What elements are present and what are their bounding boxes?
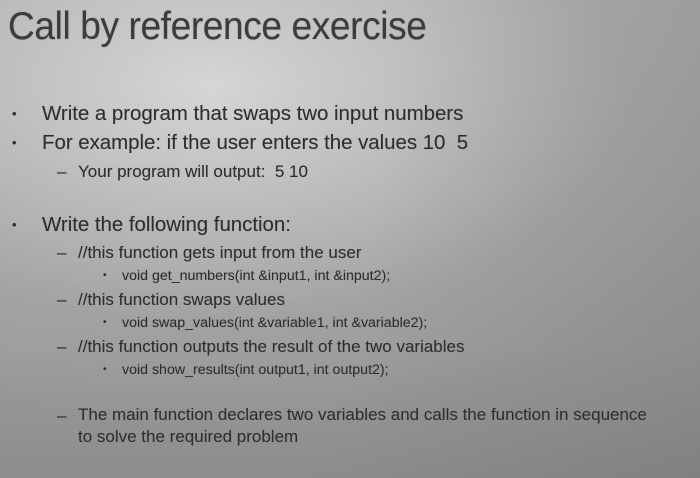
- function-signature: void swap_values(int &variable1, int &va…: [122, 313, 427, 333]
- bullet-text: The main function declares two variables…: [78, 404, 647, 448]
- bullet-item: • Write a program that swaps two input n…: [12, 100, 463, 127]
- bullet-marker-level1: •: [12, 211, 42, 238]
- slide-title: Call by reference exercise: [8, 2, 426, 52]
- bullet-text: Write a program that swaps two input num…: [42, 100, 463, 127]
- bullet-marker-level2: –: [57, 288, 78, 311]
- bullet-text: //this function gets input from the user: [78, 241, 361, 264]
- bullet-item: • For example: if the user enters the va…: [12, 129, 468, 156]
- bullet-marker-level1: •: [12, 100, 42, 127]
- bullet-marker-level3: •: [103, 313, 122, 333]
- bullet-text: For example: if the user enters the valu…: [42, 129, 468, 156]
- bullet-marker-level2: –: [57, 335, 78, 358]
- function-signature: void get_numbers(int &input1, int &input…: [122, 266, 390, 286]
- bullet-marker-level2: –: [57, 241, 78, 264]
- bullet-marker-level3: •: [103, 266, 122, 286]
- bullet-item: – The main function declares two variabl…: [57, 404, 647, 448]
- bullet-marker-level3: •: [103, 360, 122, 380]
- bullet-item: • void show_results(int output1, int out…: [103, 360, 389, 380]
- bullet-item: – //this function gets input from the us…: [57, 241, 361, 264]
- bullet-text: Your program will output: 5 10: [78, 160, 308, 183]
- bullet-item: • Write the following function:: [12, 211, 291, 238]
- bullet-marker-level1: •: [12, 129, 42, 156]
- bullet-text: //this function outputs the result of th…: [78, 335, 465, 358]
- bullet-text: //this function swaps values: [78, 288, 285, 311]
- bullet-item: – //this function outputs the result of …: [57, 335, 465, 358]
- presentation-slide: Call by reference exercise • Write a pro…: [0, 0, 700, 478]
- function-signature: void show_results(int output1, int outpu…: [122, 360, 389, 380]
- bullet-item: – //this function swaps values: [57, 288, 285, 311]
- bullet-item: – Your program will output: 5 10: [57, 160, 308, 183]
- bullet-marker-level2: –: [57, 160, 78, 183]
- bullet-text: Write the following function:: [42, 211, 291, 238]
- bullet-item: • void get_numbers(int &input1, int &inp…: [103, 266, 390, 286]
- bullet-marker-level2: –: [57, 404, 78, 427]
- bullet-item: • void swap_values(int &variable1, int &…: [103, 313, 427, 333]
